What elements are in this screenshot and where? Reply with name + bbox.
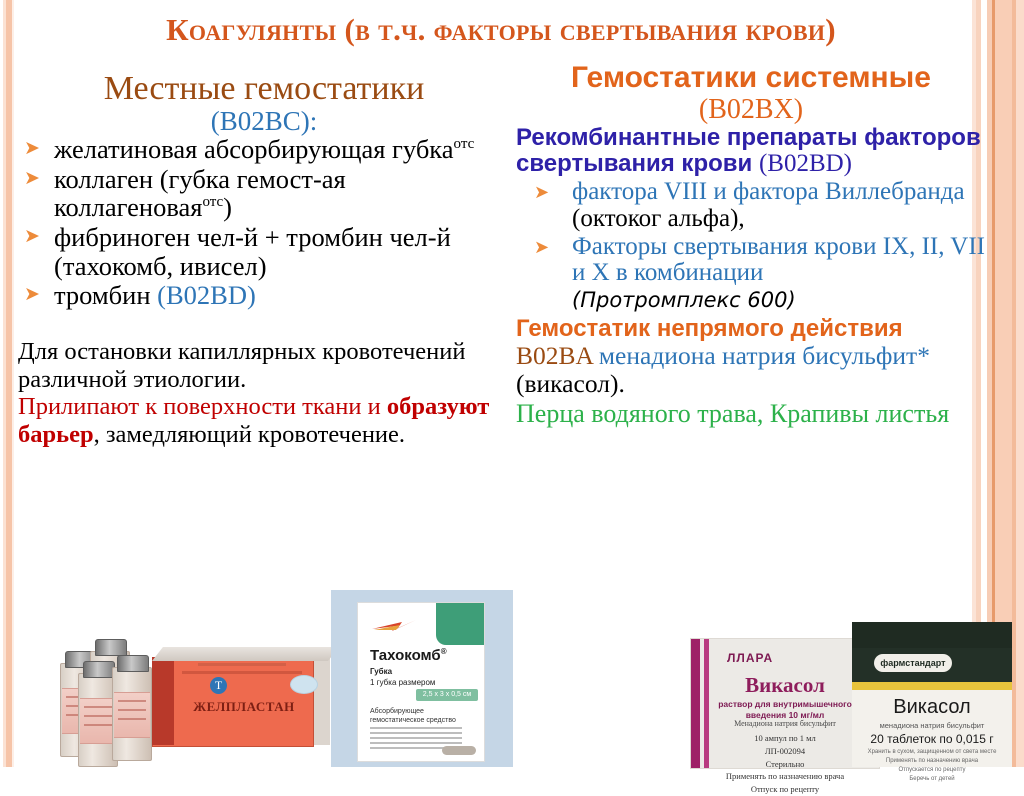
vikasol-tablets-inn: менадиона натрия бисульфит xyxy=(852,721,1012,730)
left-column: Местные гемостатики (B02BC): ➤желатинова… xyxy=(18,72,510,449)
vikasol-ampoules-details: 10 ампул по 1 мл ЛП-002094 Стерильно При… xyxy=(691,732,879,796)
stripe-right-8 xyxy=(1016,0,1024,767)
list-item-black: (октоког альфа), xyxy=(572,205,745,232)
tahocomb-swoosh-icon xyxy=(372,619,416,631)
list-item-sup: отс xyxy=(202,195,223,211)
zhelplastan-name: ЖЕЛПЛАСТАН xyxy=(182,699,306,715)
tablets-note-3: Отпускается по рецепту xyxy=(898,767,965,773)
farmstandart-logo: фармстандарт xyxy=(874,654,952,672)
local-hemostatics-heading-text: Местные гемостатики xyxy=(104,70,425,107)
list-item-blue: фактора VIII и фактора Виллебранда xyxy=(572,178,965,205)
vikasol-ampoules-inn: Менадиона натрия бисульфит xyxy=(691,719,879,728)
stripe-right-7 xyxy=(1012,0,1016,767)
vikasol-sterile: Стерильно xyxy=(766,759,805,769)
stripe-left-1 xyxy=(3,0,6,767)
systemic-hemostatics-code: (B02BX) xyxy=(516,95,986,124)
systemic-hemostatics-heading-text: Гемостатики системные xyxy=(571,61,931,94)
recombinant-list: ➤фактора VIII и фактора Виллебранда (окт… xyxy=(516,179,986,314)
tahocomb-qty: 1 губка размером xyxy=(370,678,435,687)
tablets-note-4: Беречь от детей xyxy=(909,776,954,782)
product-photo-tahocomb: Тахокомб® Губка 1 губка размером 2,5 x 3… xyxy=(331,590,513,767)
local-hemostatics-list: ➤желатиновая абсорбирующая губкаотс ➤кол… xyxy=(18,135,510,310)
box-top-face xyxy=(152,647,339,661)
product-photo-zhelplastan: T ЖЕЛПЛАСТАН xyxy=(60,618,332,767)
list-item-text: коллаген (губка гемост-ая коллагеновая xyxy=(54,164,346,223)
vikasol-tablets-dose: 20 таблеток по 0,015 г xyxy=(852,732,1012,746)
tablets-box-yellow-band xyxy=(852,682,1012,690)
tahocomb-reg-mark: ® xyxy=(441,647,447,656)
vial xyxy=(112,667,152,761)
vikasol-tablets-name: Викасол xyxy=(852,696,1012,719)
vikasol-qty: 10 ампул по 1 мл xyxy=(754,733,816,743)
b02ba-line: B02BA менадиона натрия бисульфит* (викас… xyxy=(516,342,986,398)
paragraph-red-part: Прилипают к поверхности ткани и xyxy=(18,393,387,420)
box-maker-line xyxy=(198,663,286,666)
list-item-brand: (Протромплекс 600) xyxy=(572,288,796,312)
bullet-arrow-icon: ➤ xyxy=(24,137,40,162)
tablets-box-top-face xyxy=(852,622,1012,648)
recombinant-heading-text: Рекомбинантные препараты факторов сверты… xyxy=(516,124,981,176)
tahocomb-size: 2,5 x 3 x 0,5 см xyxy=(416,689,478,701)
stripe-left-3 xyxy=(12,0,14,767)
tablets-note-1: Хранить в сухом, защищенном от света мес… xyxy=(868,749,997,755)
vial-cap xyxy=(117,655,149,672)
bullet-arrow-icon: ➤ xyxy=(534,236,549,259)
vikasol-tablets-notes: Хранить в сухом, защищенном от света мес… xyxy=(852,748,1012,784)
b02ba-code: B02BA xyxy=(516,341,599,370)
zhelplastan-box: T ЖЕЛПЛАСТАН xyxy=(152,647,330,745)
right-column: Гемостатики системные (B02BX) Рекомбинан… xyxy=(516,62,986,428)
list-item: ➤Факторы свертывания крови IX, II, VII и… xyxy=(516,234,986,314)
bullet-arrow-icon: ➤ xyxy=(24,167,40,192)
vikasol-manufacturer-logo: ЛЛАРА xyxy=(727,651,773,665)
vial-label xyxy=(114,692,150,738)
vial-cap xyxy=(83,661,115,678)
tahocomb-pack: Тахокомб® Губка 1 губка размером 2,5 x 3… xyxy=(357,602,485,762)
local-hemostatics-code: (B02BC): xyxy=(18,108,510,136)
list-item-tail: ) xyxy=(223,192,232,222)
paragraph-rest: , замедляющий кровотечение. xyxy=(94,421,405,448)
list-item-sup: отс xyxy=(454,136,475,152)
tahocomb-desc-2: гемостатическое средство xyxy=(370,717,456,724)
vikasol-note-2: Отпуск по рецепту xyxy=(751,784,819,794)
paragraph-line-1: Для остановки капиллярных кровотечений р… xyxy=(18,338,465,393)
page-title: Коагулянты (в т.ч. факторы свертывания к… xyxy=(26,14,976,47)
box-subtitle-line xyxy=(182,671,302,674)
indirect-hemostatic-heading: Гемостатик непрямого действия xyxy=(516,316,986,341)
bullet-arrow-icon: ➤ xyxy=(534,181,549,204)
list-item-blue: Факторы свертывания крови IX, II, VII и … xyxy=(572,233,985,287)
tahocomb-name-text: Тахокомб xyxy=(370,647,441,664)
list-item: ➤желатиновая абсорбирующая губкаотс xyxy=(18,135,510,164)
tablets-note-2: Применять по назначению врача xyxy=(886,758,978,764)
vikasol-form-line-1: раствор для внутримышечного xyxy=(718,699,852,709)
list-item-code: (B02BD) xyxy=(157,280,256,310)
left-paragraph: Для остановки капиллярных кровотечений р… xyxy=(18,338,510,449)
list-item: ➤тромбин (B02BD) xyxy=(18,281,510,310)
box-side-face xyxy=(152,657,174,745)
stripe-left-2 xyxy=(6,0,12,767)
manufacturer-logo-icon: T xyxy=(210,677,227,694)
tahocomb-brandmark xyxy=(442,746,476,755)
tahocomb-desc: Абсорбирующее гемостатическое средство xyxy=(370,707,456,726)
vikasol-note-1: Применять по назначению врача xyxy=(726,771,844,781)
tahocomb-green-block xyxy=(436,603,484,645)
list-item-text: фибриноген чел-й + тромбин чел-й (тахоко… xyxy=(54,222,451,281)
herbs-line: Перца водяного трава, Крапивы листья xyxy=(516,400,986,429)
vial-label xyxy=(80,698,116,744)
list-item: ➤фибриноген чел-й + тромбин чел-й (тахок… xyxy=(18,223,510,280)
systemic-hemostatics-heading: Гемостатики системные (B02BX) xyxy=(516,62,986,124)
list-item: ➤фактора VIII и фактора Виллебранда (окт… xyxy=(516,179,986,233)
b02ba-drug: менадиона натрия бисульфит* xyxy=(599,341,930,370)
box-oval-badge xyxy=(290,675,318,694)
product-photo-vikasol-tablets: фармстандарт Викасол менадиона натрия би… xyxy=(852,622,1012,767)
vial-cap xyxy=(95,639,127,656)
list-item-text: тромбин xyxy=(54,280,157,310)
bullet-arrow-icon: ➤ xyxy=(24,283,40,308)
bullet-arrow-icon: ➤ xyxy=(24,225,40,250)
tahocomb-name: Тахокомб® xyxy=(370,647,447,664)
b02ba-brand: (викасол). xyxy=(516,369,625,398)
vikasol-reg: ЛП-002094 xyxy=(765,746,805,756)
slide-canvas: Коагулянты (в т.ч. факторы свертывания к… xyxy=(0,0,1024,767)
tahocomb-desc-1: Абсорбирующее xyxy=(370,708,424,715)
recombinant-code: (B02BD) xyxy=(759,150,852,177)
tahocomb-form: Губка xyxy=(370,667,392,676)
recombinant-heading: Рекомбинантные препараты факторов сверты… xyxy=(516,125,986,177)
local-hemostatics-heading: Местные гемостатики (B02BC): xyxy=(18,72,510,135)
vikasol-ampoules-name: Викасол xyxy=(691,673,879,698)
list-item-text: желатиновая абсорбирующая губка xyxy=(54,134,454,164)
list-item: ➤коллаген (губка гемост-ая коллагеноваяо… xyxy=(18,165,510,222)
